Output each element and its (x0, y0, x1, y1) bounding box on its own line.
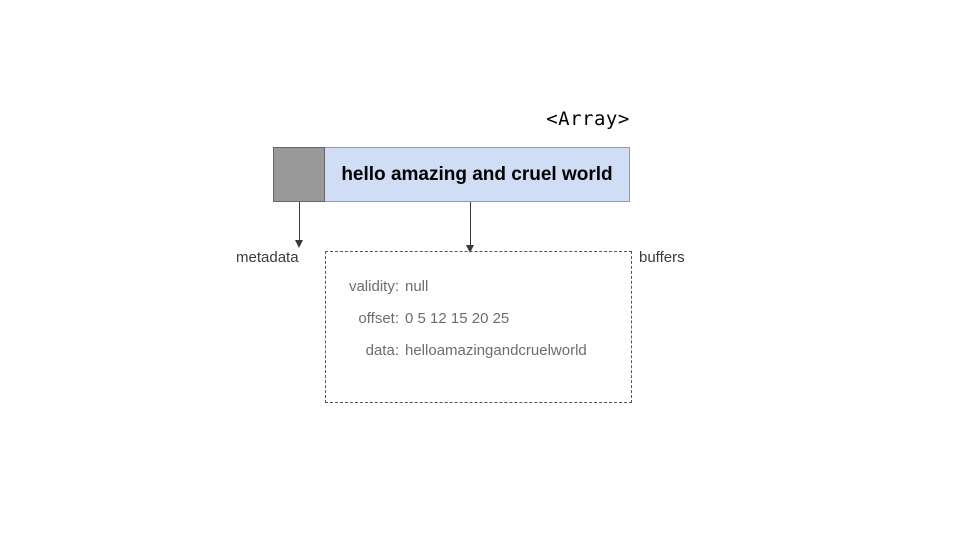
buffer-key: validity: (326, 278, 399, 295)
metadata-label: metadata (236, 249, 299, 266)
diagram-canvas: <Array> hello amazing and cruel world me… (0, 0, 960, 540)
buffer-key: data: (326, 342, 399, 359)
buffers-arrow-line (470, 202, 472, 246)
buffer-value: helloamazingandcruelworld (405, 342, 587, 359)
metadata-arrow-icon (295, 240, 303, 248)
buffer-row: data: helloamazingandcruelworld (326, 342, 631, 374)
array-value-label: hello amazing and cruel world (341, 164, 612, 186)
buffer-value: 0 5 12 15 20 25 (405, 310, 509, 327)
buffer-row: validity: null (326, 278, 631, 310)
metadata-arrow-line (299, 202, 301, 241)
array-box: hello amazing and cruel world (273, 147, 630, 202)
buffers-row-list: validity: null offset: 0 5 12 15 20 25 d… (326, 278, 631, 374)
buffers-label: buffers (639, 249, 685, 266)
buffer-row: offset: 0 5 12 15 20 25 (326, 310, 631, 342)
buffer-key: offset: (326, 310, 399, 327)
buffers-panel: validity: null offset: 0 5 12 15 20 25 d… (325, 251, 632, 403)
array-metadata-segment (273, 147, 325, 202)
page-title: <Array> (478, 108, 698, 130)
buffer-value: null (405, 278, 428, 295)
array-buffers-segment: hello amazing and cruel world (325, 147, 630, 202)
